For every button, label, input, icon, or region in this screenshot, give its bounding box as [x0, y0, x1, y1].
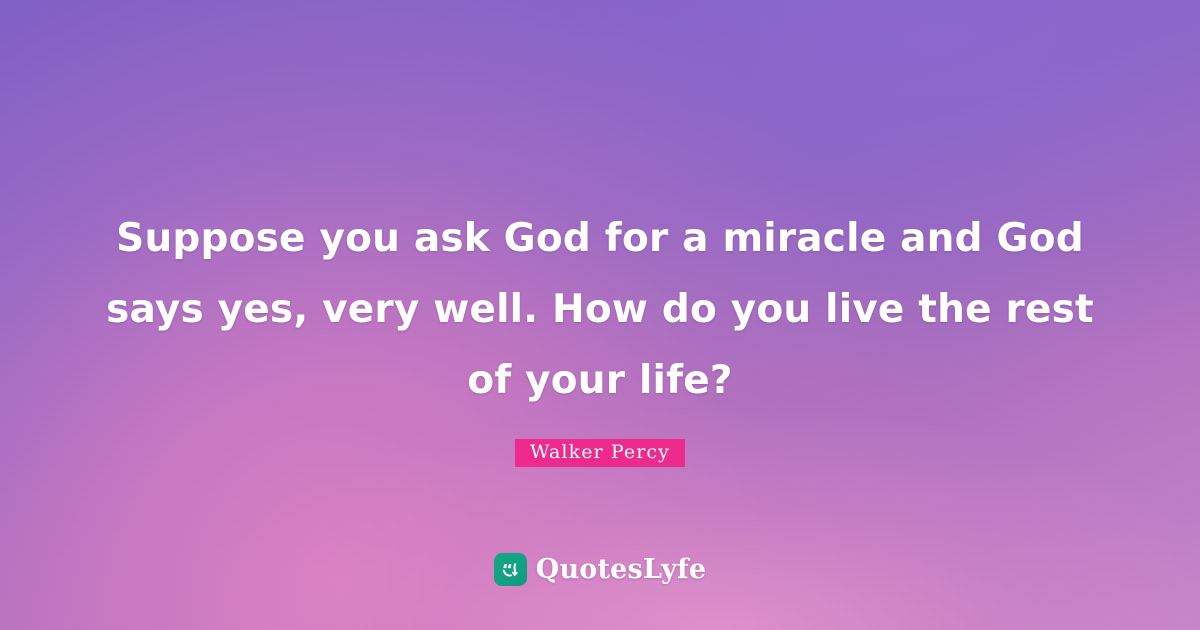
brand-name: QuotesLyfe: [536, 554, 707, 585]
quote-line-1: Suppose you ask God for a miracle and Go…: [90, 203, 1110, 274]
card-content: Suppose you ask God for a miracle and Go…: [0, 0, 1200, 630]
quote-line-2: says yes, very well. How do you live the…: [90, 274, 1110, 345]
quote-smiley-icon: [494, 553, 527, 586]
brand-watermark: QuotesLyfe: [0, 553, 1200, 586]
quote-line-3: of your life?: [90, 345, 1110, 416]
quote-text: Suppose you ask God for a miracle and Go…: [0, 203, 1200, 416]
quote-card: Suppose you ask God for a miracle and Go…: [0, 0, 1200, 630]
author-name-badge: Walker Percy: [515, 439, 685, 467]
author-attribution: Walker Percy: [0, 439, 1200, 467]
